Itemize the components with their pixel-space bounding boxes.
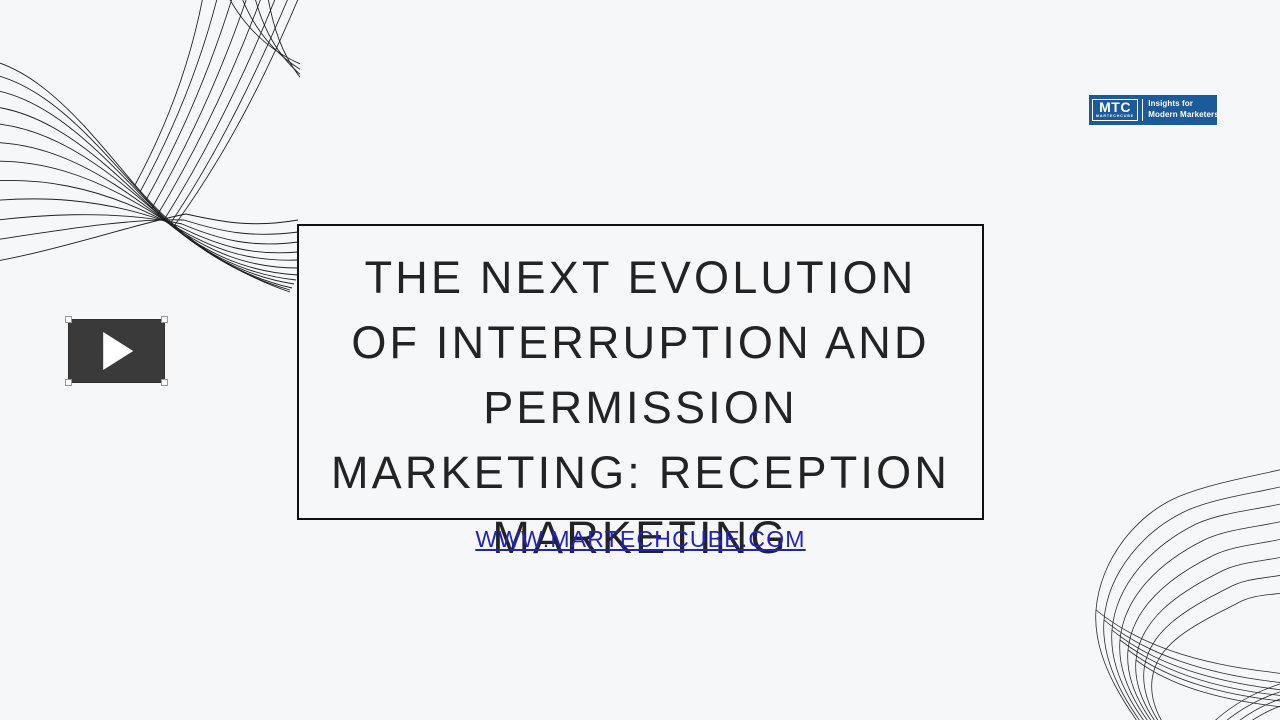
- logo-tagline-line1: Insights for: [1148, 99, 1219, 110]
- logo-martechcube-text: MARTECHCUBE: [1096, 115, 1134, 119]
- logo-mark: MTC MARTECHCUBE: [1092, 99, 1138, 121]
- logo-tagline: Insights for Modern Marketers: [1148, 99, 1219, 121]
- resize-handle-bottom-right[interactable]: [161, 379, 168, 386]
- resize-handle-top-left[interactable]: [65, 316, 72, 323]
- logo-divider: [1142, 99, 1143, 121]
- resize-handle-top-right[interactable]: [161, 316, 168, 323]
- play-icon[interactable]: [103, 332, 133, 370]
- video-placeholder[interactable]: [68, 319, 165, 383]
- wave-decoration-top-left: [0, 0, 300, 330]
- logo-mtc-text: MTC: [1099, 100, 1131, 115]
- logo-tagline-line2: Modern Marketers: [1148, 110, 1219, 121]
- website-url-link[interactable]: WWW.MARTECHCUBE.COM: [297, 526, 984, 553]
- wave-decoration-bottom-right: [1070, 450, 1280, 720]
- resize-handle-bottom-left[interactable]: [65, 379, 72, 386]
- slide-title: THE NEXT EVOLUTION OF INTERRUPTION AND P…: [297, 245, 984, 570]
- presentation-slide: MTC MARTECHCUBE Insights for Modern Mark…: [0, 0, 1280, 720]
- mtc-logo: MTC MARTECHCUBE Insights for Modern Mark…: [1089, 95, 1217, 125]
